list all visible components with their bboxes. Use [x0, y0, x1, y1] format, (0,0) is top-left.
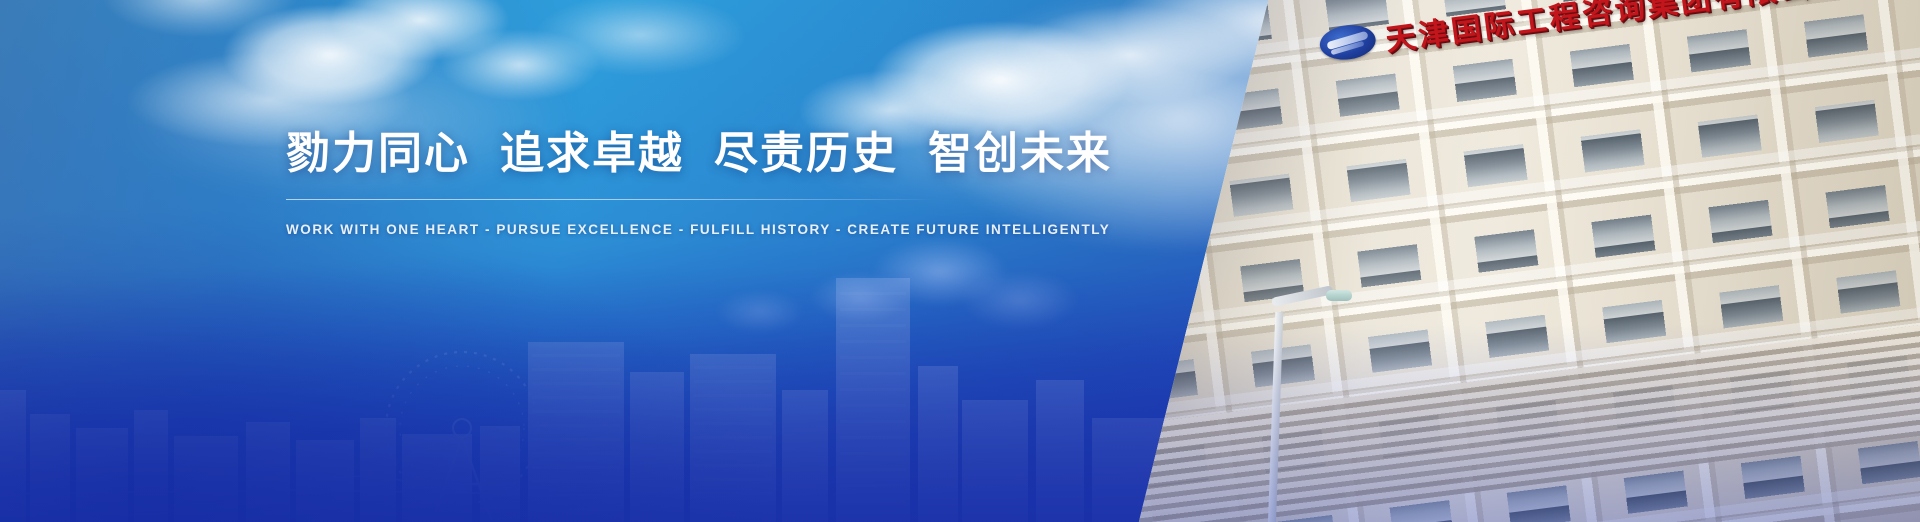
- headline-part-2: 追求卓越: [500, 128, 684, 179]
- headline-part-4: 智创未来: [928, 128, 1112, 179]
- headline-divider: [286, 199, 934, 200]
- headline-part-1: 勠力同心: [286, 128, 470, 179]
- hero-banner: 天津国际工程咨询集团有限公司 勠力同心追求卓越尽责历史智创未来 WORK WIT…: [0, 0, 1920, 522]
- headline-part-3: 尽责历史: [714, 128, 898, 179]
- lamp-head: [1326, 290, 1352, 301]
- subtitle: WORK WITH ONE HEART - PURSUE EXCELLENCE …: [286, 222, 986, 237]
- street-lamp: [1216, 292, 1336, 522]
- lamp-pole: [1268, 312, 1283, 522]
- company-logo-icon: [1318, 22, 1378, 63]
- headline: 勠力同心追求卓越尽责历史智创未来: [286, 128, 986, 179]
- slogan-block: 勠力同心追求卓越尽责历史智创未来 WORK WITH ONE HEART - P…: [286, 128, 986, 237]
